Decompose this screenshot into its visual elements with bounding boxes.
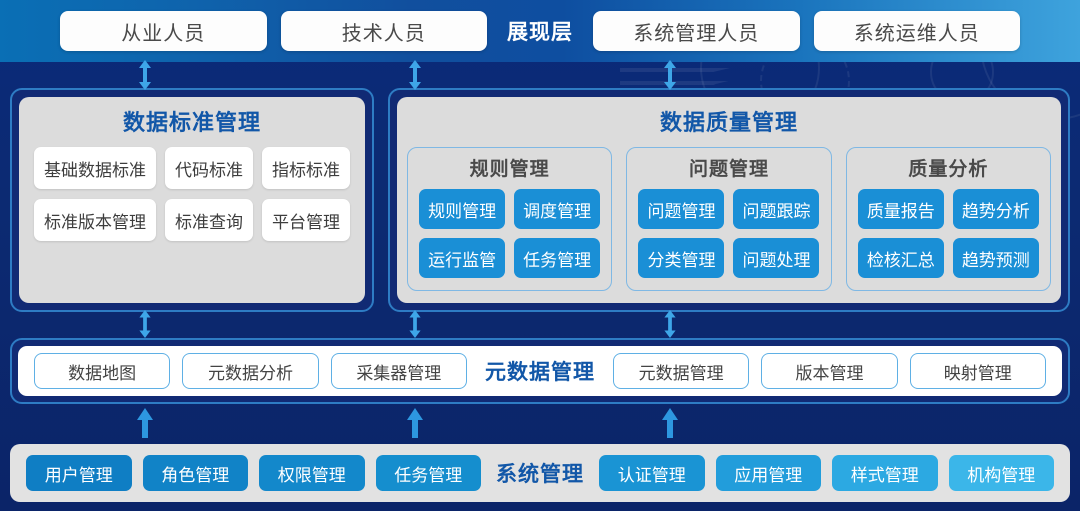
chip-runtime-supervision[interactable]: 运行监管	[419, 238, 505, 278]
chip-application-management[interactable]: 应用管理	[716, 455, 822, 491]
chip-org-management[interactable]: 机构管理	[949, 455, 1055, 491]
subpanel-title-rule-management: 规则管理	[470, 154, 550, 181]
double-arrow-icon	[662, 310, 678, 338]
metadata-layer-label: 元数据管理	[479, 356, 601, 386]
role-chip-technician[interactable]: 技术人员	[281, 11, 488, 51]
subpanel-chip-grid: 规则管理 调度管理 运行监管 任务管理	[419, 189, 600, 278]
subpanel-quality-analysis: 质量分析 质量报告 趋势分析 检核汇总 趋势预测	[846, 147, 1051, 291]
chip-indicator-standard[interactable]: 指标标准	[262, 147, 350, 189]
chip-classification-management[interactable]: 分类管理	[638, 238, 724, 278]
chip-auth-management[interactable]: 认证管理	[599, 455, 705, 491]
metadata-layer-panel: 数据地图 元数据分析 采集器管理 元数据管理 元数据管理 版本管理 映射管理	[10, 338, 1070, 404]
chip-trend-analysis[interactable]: 趋势分析	[953, 189, 1039, 229]
data-standard-title: 数据标准管理	[29, 105, 355, 137]
subpanel-chip-grid: 质量报告 趋势分析 检核汇总 趋势预测	[858, 189, 1039, 278]
data-quality-title: 数据质量管理	[407, 105, 1051, 137]
connector-arrows-middle	[0, 310, 1080, 340]
data-standard-row: 标准版本管理 标准查询 平台管理	[34, 199, 350, 241]
presentation-layer-label: 展现层	[501, 16, 579, 46]
double-arrow-icon	[137, 60, 153, 90]
system-management-label: 系统管理	[492, 458, 588, 488]
up-arrow-icon	[661, 406, 679, 438]
double-arrow-icon	[662, 60, 678, 90]
chip-metadata-management[interactable]: 元数据管理	[613, 353, 749, 389]
up-arrow-icon	[406, 406, 424, 438]
chip-rule-management[interactable]: 规则管理	[419, 189, 505, 229]
up-arrow-icon	[136, 406, 154, 438]
chip-audit-summary[interactable]: 检核汇总	[858, 238, 944, 278]
subpanel-chip-grid: 问题管理 问题跟踪 分类管理 问题处理	[638, 189, 819, 278]
chip-issue-tracking[interactable]: 问题跟踪	[733, 189, 819, 229]
chip-basic-data-standard[interactable]: 基础数据标准	[34, 147, 156, 189]
double-arrow-icon	[137, 310, 153, 338]
data-standard-panel: 数据标准管理 基础数据标准 代码标准 指标标准 标准版本管理 标准查询 平台管理	[10, 88, 374, 312]
chip-metadata-analysis[interactable]: 元数据分析	[182, 353, 318, 389]
subpanel-title-quality-analysis: 质量分析	[908, 154, 988, 181]
subpanel-rule-management: 规则管理 规则管理 调度管理 运行监管 任务管理	[407, 147, 612, 291]
chip-code-standard[interactable]: 代码标准	[165, 147, 253, 189]
data-standard-row: 基础数据标准 代码标准 指标标准	[34, 147, 350, 189]
chip-permission-management[interactable]: 权限管理	[259, 455, 365, 491]
middle-band: 数据标准管理 基础数据标准 代码标准 指标标准 标准版本管理 标准查询 平台管理	[0, 88, 1080, 312]
subpanel-title-issue-management: 问题管理	[689, 154, 769, 181]
data-standard-chip-grid: 基础数据标准 代码标准 指标标准 标准版本管理 标准查询 平台管理	[29, 147, 355, 241]
chip-mapping-management[interactable]: 映射管理	[910, 353, 1046, 389]
chip-quality-report[interactable]: 质量报告	[858, 189, 944, 229]
chip-task-management-sys[interactable]: 任务管理	[376, 455, 482, 491]
double-arrow-icon	[407, 310, 423, 338]
chip-trend-forecast[interactable]: 趋势预测	[953, 238, 1039, 278]
double-arrow-icon	[407, 60, 423, 90]
chip-standard-version-management[interactable]: 标准版本管理	[34, 199, 156, 241]
chip-schedule-management[interactable]: 调度管理	[514, 189, 600, 229]
presentation-layer-bar: 从业人员 技术人员 展现层 系统管理人员 系统运维人员	[0, 0, 1080, 62]
system-management-panel: 用户管理 角色管理 权限管理 任务管理 系统管理 认证管理 应用管理 样式管理 …	[10, 444, 1070, 502]
chip-user-management[interactable]: 用户管理	[26, 455, 132, 491]
chip-platform-management[interactable]: 平台管理	[262, 199, 350, 241]
chip-standard-query[interactable]: 标准查询	[165, 199, 253, 241]
architecture-diagram: 从业人员 技术人员 展现层 系统管理人员 系统运维人员 数据标准管理	[0, 0, 1080, 511]
chip-style-management[interactable]: 样式管理	[832, 455, 938, 491]
data-quality-panel: 数据质量管理 规则管理 规则管理 调度管理 运行监管 任务管理 问题管理	[388, 88, 1070, 312]
connector-arrows-bottom	[0, 406, 1080, 438]
role-chip-system-admin[interactable]: 系统管理人员	[593, 11, 800, 51]
role-chip-practitioner[interactable]: 从业人员	[60, 11, 267, 51]
subpanel-issue-management: 问题管理 问题管理 问题跟踪 分类管理 问题处理	[626, 147, 831, 291]
chip-issue-handling[interactable]: 问题处理	[733, 238, 819, 278]
chip-collector-management[interactable]: 采集器管理	[331, 353, 467, 389]
chip-issue-management[interactable]: 问题管理	[638, 189, 724, 229]
chip-task-management[interactable]: 任务管理	[514, 238, 600, 278]
data-quality-subpanels: 规则管理 规则管理 调度管理 运行监管 任务管理 问题管理 问题管理 问题跟踪	[407, 147, 1051, 291]
chip-version-management[interactable]: 版本管理	[761, 353, 897, 389]
role-chip-system-ops[interactable]: 系统运维人员	[814, 11, 1021, 51]
chip-role-management[interactable]: 角色管理	[143, 455, 249, 491]
chip-data-map[interactable]: 数据地图	[34, 353, 170, 389]
